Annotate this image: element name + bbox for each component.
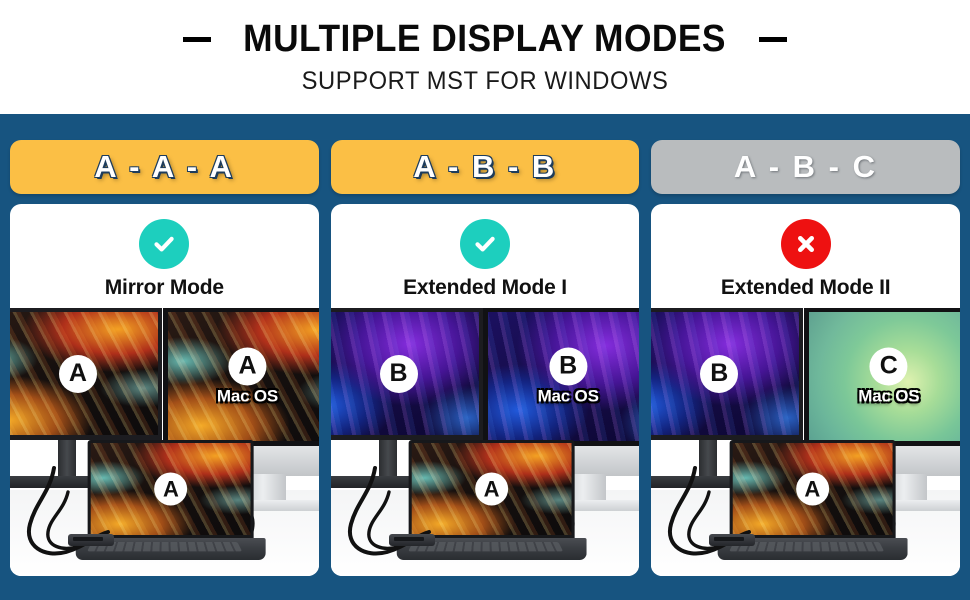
device-scene: A A Mac OS — [10, 308, 319, 576]
screen-label-left-monitor: B — [700, 355, 738, 393]
em-dash-right-icon — [759, 37, 787, 42]
monitor-neck — [699, 440, 717, 480]
letter-badge: B — [380, 355, 418, 393]
device-scene: B C Mac OS — [651, 308, 960, 576]
mode-card-extended-1: Extended Mode I B — [331, 204, 640, 576]
external-monitor-left: B — [651, 308, 803, 440]
letter-badge: B — [549, 347, 587, 385]
external-monitor-right: C Mac OS — [804, 308, 960, 446]
title-row: MULTIPLE DISPLAY MODES — [183, 18, 786, 61]
usb-hub-dock — [389, 534, 435, 546]
monitor-neck — [58, 440, 76, 480]
letter-badge: A — [154, 473, 187, 506]
panel-extended-mode-1: A - B - B Extended Mode I — [331, 140, 640, 576]
letter-badge: A — [796, 473, 829, 506]
letter-badge: A — [228, 347, 266, 385]
usb-hub-dock — [709, 534, 755, 546]
mode-badge-abc[interactable]: A - B - C — [651, 140, 960, 194]
header: MULTIPLE DISPLAY MODES SUPPORT MST FOR W… — [0, 0, 970, 114]
letter-badge: B — [700, 355, 738, 393]
screen-label-right-monitor: C Mac OS — [858, 347, 919, 406]
page-subtitle: SUPPORT MST FOR WINDOWS — [302, 67, 669, 96]
screen-label-right-monitor: B Mac OS — [538, 347, 599, 406]
screen-label-left-monitor: A — [59, 355, 97, 393]
screen-label-left-monitor: B — [380, 355, 418, 393]
screen-label-laptop: A — [154, 473, 187, 506]
screen-label-right-monitor: A Mac OS — [217, 347, 278, 406]
letter-badge: A — [59, 355, 97, 393]
mode-title: Extended Mode II — [721, 276, 891, 300]
panel-extended-mode-2: A - B - C Extended Mode II — [651, 140, 960, 576]
mode-badge-label: A - B - C — [734, 149, 878, 185]
mode-card-mirror: Mirror Mode A — [10, 204, 319, 576]
mode-badge-abb[interactable]: A - B - B — [331, 140, 640, 194]
usb-hub-dock — [68, 534, 114, 546]
letter-badge: C — [870, 347, 908, 385]
external-monitor-left: B — [331, 308, 483, 440]
device-scene: B B Mac OS — [331, 308, 640, 576]
card-header: Mirror Mode — [10, 204, 319, 300]
screen-label-laptop: A — [796, 473, 829, 506]
os-label: Mac OS — [217, 386, 278, 406]
em-dash-left-icon — [183, 37, 211, 42]
screen-label-laptop: A — [475, 473, 508, 506]
page-title: MULTIPLE DISPLAY MODES — [244, 18, 727, 61]
mode-title: Mirror Mode — [105, 276, 224, 300]
monitor-neck — [379, 440, 397, 480]
card-header: Extended Mode I — [331, 204, 640, 300]
card-header: Extended Mode II — [651, 204, 960, 300]
panel-mirror-mode: A - A - A Mirror Mode — [10, 140, 319, 576]
mode-badge-label: A - B - B — [413, 149, 557, 185]
os-label: Mac OS — [858, 386, 919, 406]
x-circle-icon — [781, 219, 831, 269]
check-circle-icon — [460, 219, 510, 269]
multiple-display-modes-infographic: MULTIPLE DISPLAY MODES SUPPORT MST FOR W… — [0, 0, 970, 600]
panels-stage: A - A - A Mirror Mode — [0, 114, 970, 600]
external-monitor-right: A Mac OS — [163, 308, 319, 446]
mode-card-extended-2: Extended Mode II B — [651, 204, 960, 576]
mode-badge-aaa[interactable]: A - A - A — [10, 140, 319, 194]
letter-badge: A — [475, 473, 508, 506]
external-monitor-left: A — [10, 308, 162, 440]
external-monitor-right: B Mac OS — [483, 308, 639, 446]
mode-title: Extended Mode I — [403, 276, 567, 300]
check-circle-icon — [139, 219, 189, 269]
mode-badge-label: A - A - A — [94, 149, 234, 185]
os-label: Mac OS — [538, 386, 599, 406]
